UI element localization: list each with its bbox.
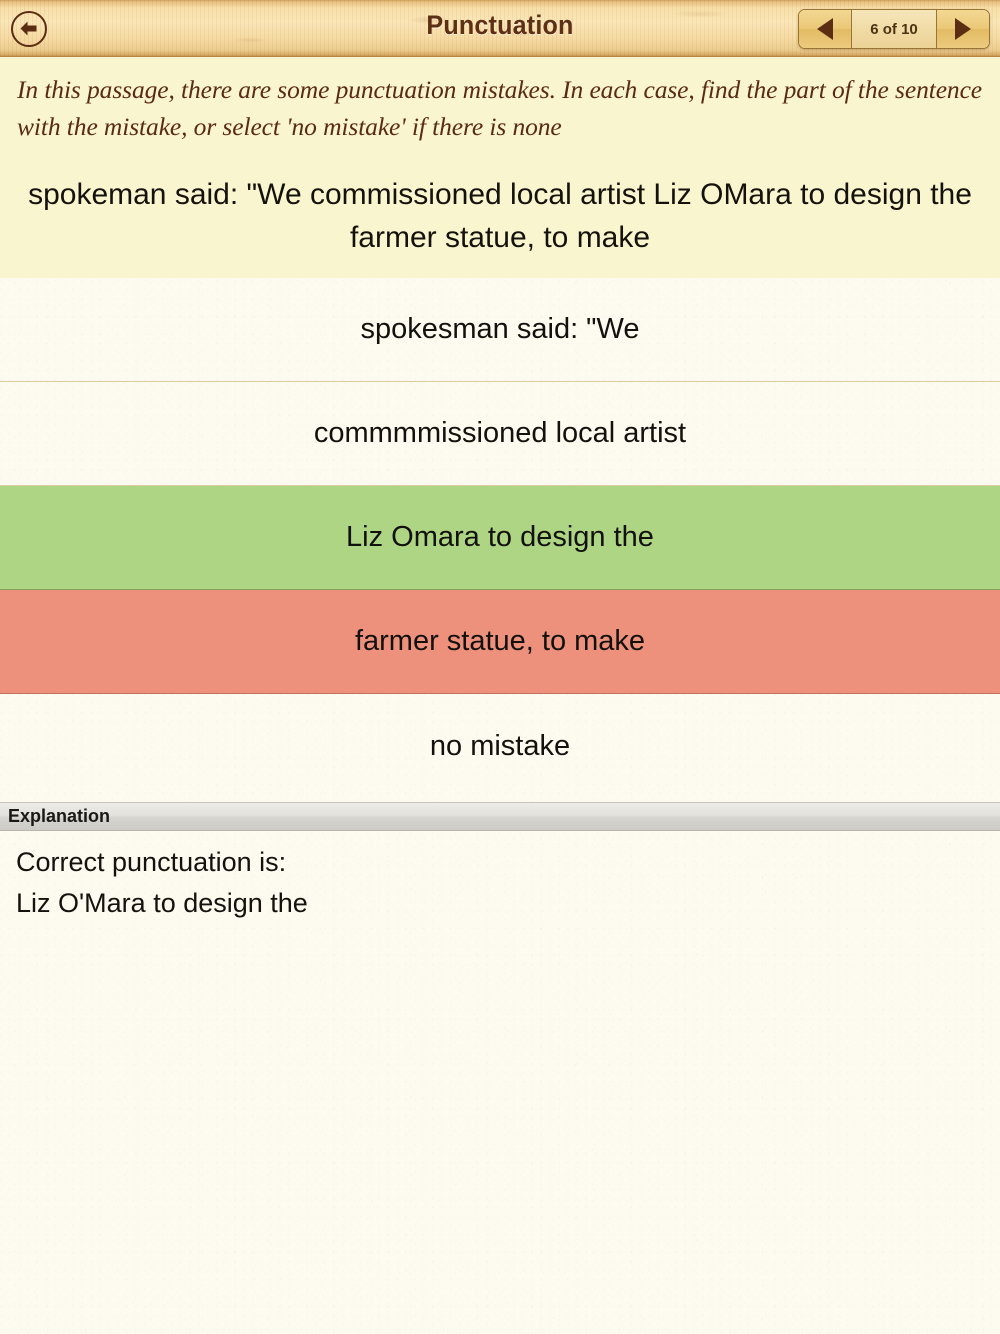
answer-option-1[interactable]: spokesman said: "We — [0, 278, 1000, 382]
passage-text: spokeman said: "We commissioned local ar… — [22, 173, 978, 259]
answer-option-label: no mistake — [430, 730, 570, 763]
answer-option-5[interactable]: no mistake — [0, 694, 1000, 798]
triangle-right-icon — [955, 18, 971, 40]
answer-option-label: farmer statue, to make — [355, 625, 645, 658]
pager: 6 of 10 — [798, 9, 990, 49]
answer-option-3-correct[interactable]: Liz Omara to design the — [0, 486, 1000, 590]
answer-option-label: commmmissioned local artist — [314, 417, 686, 450]
passage-panel: spokeman said: "We commissioned local ar… — [0, 154, 1000, 278]
answer-option-label: spokesman said: "We — [361, 313, 640, 346]
triangle-left-icon — [817, 18, 833, 40]
answer-option-label: Liz Omara to design the — [346, 521, 654, 554]
explanation-heading-label: Explanation — [8, 806, 110, 827]
explanation-header: Explanation — [0, 802, 1000, 831]
title-bar: Punctuation 6 of 10 — [0, 0, 1000, 57]
answer-option-4-selected-wrong[interactable]: farmer statue, to make — [0, 590, 1000, 694]
explanation-body: Correct punctuation is: Liz O'Mara to de… — [0, 834, 1000, 924]
next-question-button[interactable] — [937, 10, 989, 48]
prev-question-button[interactable] — [799, 10, 851, 48]
instruction-text: In this passage, there are some punctuat… — [0, 57, 1000, 154]
question-counter: 6 of 10 — [852, 10, 936, 48]
answer-option-2[interactable]: commmmissioned local artist — [0, 382, 1000, 486]
answer-options-list: spokesman said: "We commmmissioned local… — [0, 278, 1000, 798]
